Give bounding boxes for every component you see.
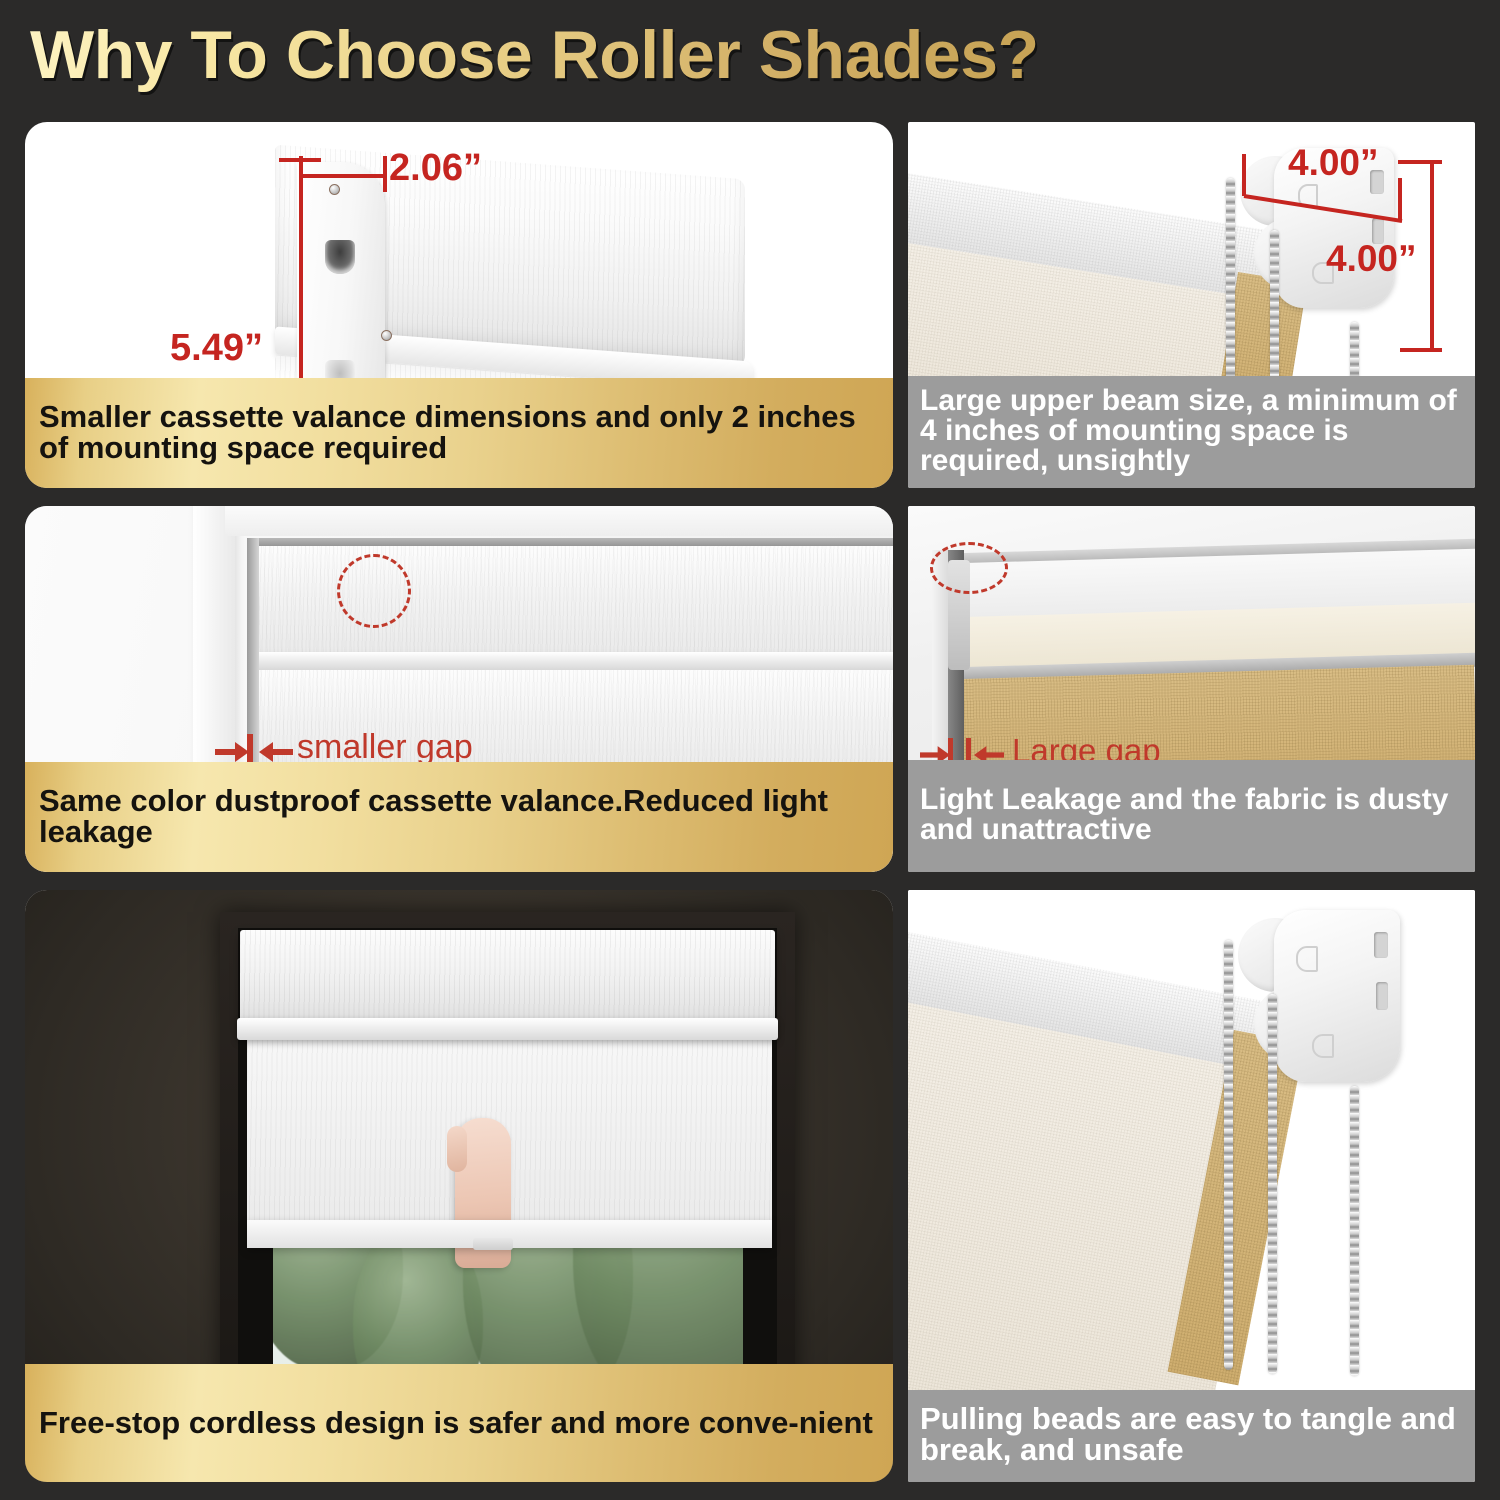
cassette-lip (237, 1018, 778, 1040)
caption-band: Same color dustproof cassette valance.Re… (25, 762, 893, 872)
caption-text: Smaller cassette valance dimensions and … (39, 401, 879, 463)
caption-text: Same color dustproof cassette valance.Re… (39, 785, 879, 847)
caption-band: Pulling beads are easy to tangle and bre… (908, 1390, 1475, 1482)
panel-large-upper-beam: 4.00” 4.00” Large upper beam size, a min… (908, 122, 1475, 488)
rail-grip (473, 1238, 513, 1250)
caption-band: Light Leakage and the fabric is dusty an… (908, 760, 1475, 872)
bead-chain-tail (1350, 1086, 1359, 1376)
highlight-circle-gap (337, 554, 411, 628)
bead-chain-front (1226, 178, 1235, 408)
beam-height-line (1430, 162, 1434, 352)
gap-arrow-right-icon (259, 740, 293, 764)
window-frame-header (225, 506, 893, 536)
bracket-hook-icon-2 (1312, 1034, 1334, 1058)
beam-width-tick-right (1398, 178, 1402, 222)
width-dimension-line (301, 174, 387, 178)
caption-text: Free-stop cordless design is safer and m… (39, 1407, 873, 1438)
endcap-screw-mid (381, 330, 392, 341)
height-dimension-label: 5.49” (170, 327, 263, 370)
width-dimension-tick-right (383, 156, 387, 192)
endcap-screw-top (329, 184, 340, 195)
caption-text: Pulling beads are easy to tangle and bre… (920, 1404, 1467, 1465)
panel-smaller-cassette: 2.06” 5.49” Smaller cassette valance dim… (25, 122, 893, 488)
beam-height-tick-bottom (1400, 348, 1442, 352)
beam-width-label: 4.00” (1288, 142, 1379, 184)
bracket-hook-icon (1296, 946, 1318, 972)
caption-text: Large upper beam size, a minimum of 4 in… (920, 386, 1467, 475)
width-dimension-label: 2.06” (389, 147, 482, 190)
endcap-slot-upper (325, 240, 355, 274)
height-dimension-tick-top (279, 158, 321, 162)
beam-height-label: 4.00” (1326, 238, 1417, 280)
panel-cordless-design: Free-stop cordless design is safer and m… (25, 890, 893, 1482)
bead-chain-back (1268, 994, 1277, 1374)
caption-band: Smaller cassette valance dimensions and … (25, 378, 893, 488)
panel-dustproof-valance: smaller gap Same color dustproof cassett… (25, 506, 893, 872)
highlight-circle-gap (930, 542, 1008, 594)
caption-band: Large upper beam size, a minimum of 4 in… (908, 376, 1475, 488)
beam-width-tick-left (1242, 154, 1246, 196)
panel-light-leakage: Large gap Light Leakage and the fabric i… (908, 506, 1475, 872)
bead-chain-front (1224, 940, 1233, 1370)
cassette-valance (240, 930, 775, 1026)
caption-band: Free-stop cordless design is safer and m… (25, 1364, 893, 1482)
title-bar: Why To Choose Roller Shades? (0, 0, 1500, 122)
beam-height-tick-top (1398, 160, 1442, 164)
valance-lip (253, 652, 893, 670)
panel-pulling-beads: Pulling beads are easy to tangle and bre… (908, 890, 1475, 1482)
bracket-notch-upper (1374, 932, 1388, 958)
bracket-notch-lower (1376, 982, 1388, 1010)
thumb (447, 1126, 467, 1172)
caption-text: Light Leakage and the fabric is dusty an… (920, 785, 1467, 844)
page-title: Why To Choose Roller Shades? (30, 16, 1039, 94)
gap-arrow-left-icon (215, 740, 249, 764)
